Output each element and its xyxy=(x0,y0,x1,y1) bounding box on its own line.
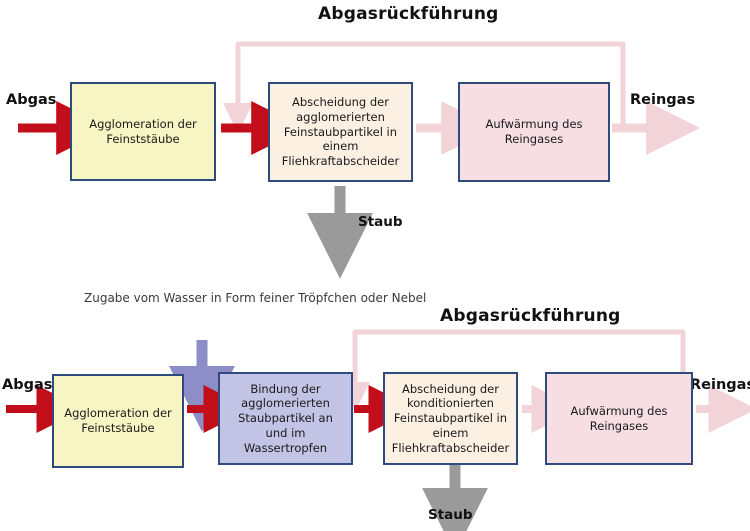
box-text-line: Abscheidung der xyxy=(392,382,509,397)
top-dust-label: Staub xyxy=(358,214,403,230)
bottom-recirculation-title: Abgasrückführung xyxy=(440,306,621,326)
box-text-line: Feinststäube xyxy=(64,421,172,436)
top-recirculation-title: Abgasrückführung xyxy=(318,4,499,24)
box-text-line: Aufwärmung des xyxy=(570,404,667,419)
box-text-line: einem xyxy=(392,426,509,441)
box-text-line: Feinstaubpartikel in xyxy=(392,411,509,426)
bottom-dust-label: Staub xyxy=(428,507,473,523)
box-text-line: Feinststäube xyxy=(89,132,197,147)
box-text-line: Fliehkraftabscheider xyxy=(392,441,509,456)
bottom-box-agglomeration[interactable]: Agglomeration der Feinststäube xyxy=(52,374,184,468)
box-text-line: Fliehkraftabscheider xyxy=(282,154,399,169)
water-note-line-1: Zugabe vom Wasser in Form feiner xyxy=(84,291,294,305)
water-addition-note: Zugabe vom Wasser in Form feiner Tröpfch… xyxy=(84,290,324,306)
box-text-line: agglomerierten xyxy=(282,110,399,125)
flowchart-canvas: Abgasrückführung Abgas Reingas Agglomera… xyxy=(0,0,750,531)
bottom-box-aufwaermung[interactable]: Aufwärmung des Reingases xyxy=(545,372,693,465)
box-text-line: Agglomeration der xyxy=(89,117,197,132)
bottom-output-label: Reingas xyxy=(690,377,750,393)
box-text-line: agglomerierten xyxy=(238,396,333,411)
box-text-line: Agglomeration der xyxy=(64,406,172,421)
top-output-label: Reingas xyxy=(630,92,695,108)
bottom-box-abscheidung[interactable]: Abscheidung der konditionierten Feinstau… xyxy=(383,372,518,465)
top-box-abscheidung[interactable]: Abscheidung der agglomerierten Feinstaub… xyxy=(268,82,413,182)
box-text-line: Aufwärmung des xyxy=(485,117,582,132)
top-box-aufwaermung[interactable]: Aufwärmung des Reingases xyxy=(458,82,610,182)
box-text-line: einem xyxy=(282,139,399,154)
bottom-box-bindung[interactable]: Bindung der agglomerierten Staubpartikel… xyxy=(218,372,353,465)
top-input-label: Abgas xyxy=(6,92,56,108)
box-text-line: Wassertropfen xyxy=(238,441,333,456)
box-text-line: Bindung der xyxy=(238,382,333,397)
water-note-line-2: Tröpfchen oder Nebel xyxy=(298,291,426,305)
box-text-line: Staubpartikel an xyxy=(238,411,333,426)
bottom-input-label: Abgas xyxy=(2,377,52,393)
top-box-agglomeration[interactable]: Agglomeration der Feinststäube xyxy=(70,82,216,181)
box-text-line: Abscheidung der xyxy=(282,95,399,110)
box-text-line: konditionierten xyxy=(392,396,509,411)
box-text-line: Feinstaubpartikel in xyxy=(282,125,399,140)
box-text-line: Reingases xyxy=(570,419,667,434)
box-text-line: und im xyxy=(238,426,333,441)
box-text-line: Reingases xyxy=(485,132,582,147)
